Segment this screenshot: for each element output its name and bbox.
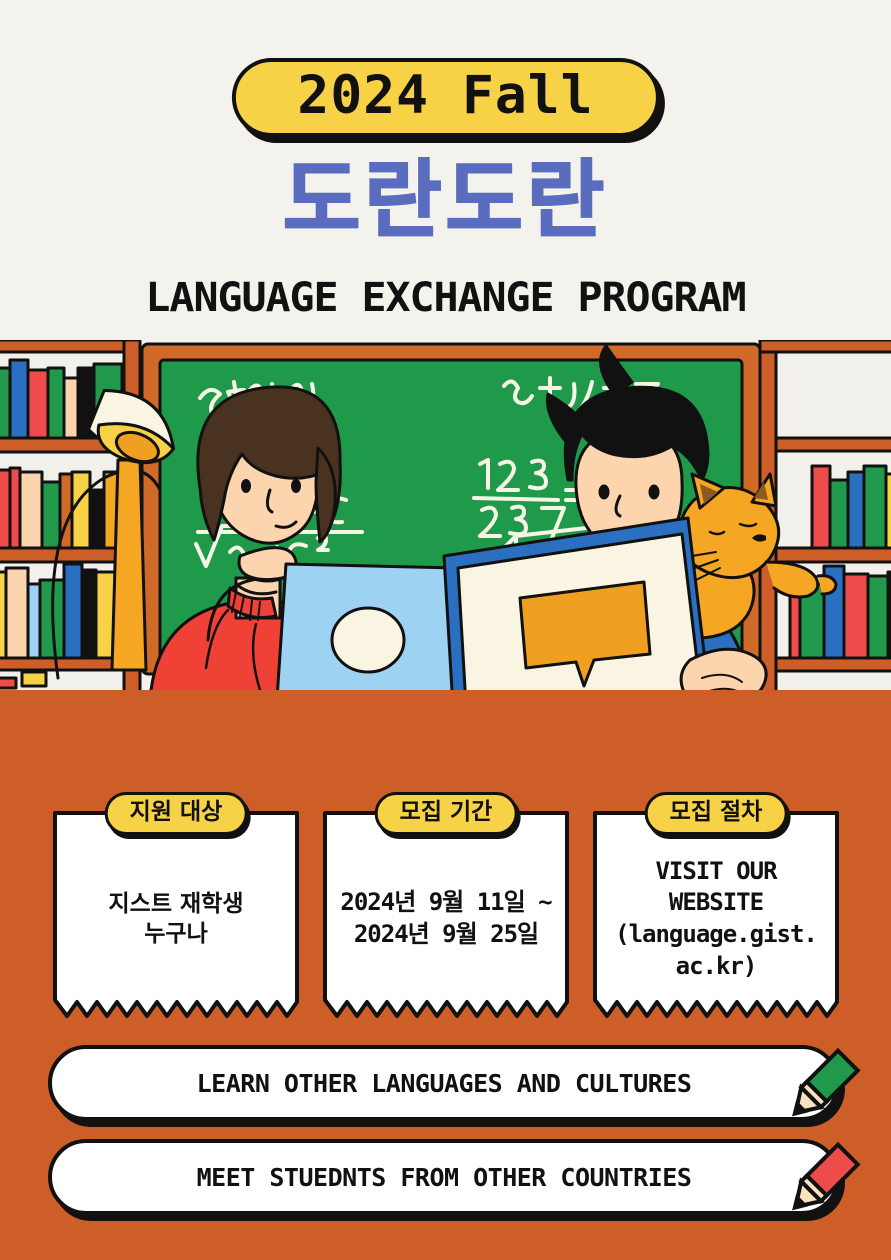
benefit-banner-students[interactable]: MEET STUEDNTS FROM OTHER COUNTRIES (48, 1139, 840, 1215)
info-card-period: 2024년 9월 11일 ~ 2024년 9월 25일 모집 기간 (322, 810, 570, 1028)
card-line: ac.kr) (592, 951, 840, 983)
year-badge-label: 2024 Fall (297, 69, 593, 122)
info-card-eligibility-text: 지스트 재학생 누구나 (52, 810, 300, 1010)
card-line: 2024년 9월 11일 ~ (322, 887, 570, 919)
info-card-eligibility: 지스트 재학생 누구나 지원 대상 (52, 810, 300, 1028)
card-line: (language.gist. (592, 919, 840, 951)
page-title-korean: 도란도란 (0, 158, 891, 242)
pencil-green-icon (778, 1043, 864, 1129)
year-badge: 2024 Fall (231, 58, 659, 137)
card-line: 누구나 (52, 919, 300, 949)
card-line: VISIT OUR (592, 856, 840, 888)
info-card-period-text: 2024년 9월 11일 ~ 2024년 9월 25일 (322, 810, 570, 1010)
page-title-english: LANGUAGE EXCHANGE PROGRAM (0, 278, 891, 318)
info-card-process-label: 모집 절차 (645, 792, 788, 835)
info-card-process: VISIT OUR WEBSITE (language.gist. ac.kr)… (592, 810, 840, 1028)
card-line: WEBSITE (592, 887, 840, 919)
benefit-banner-students-label: MEET STUEDNTS FROM OTHER COUNTRIES (197, 1163, 692, 1192)
info-card-eligibility-label: 지원 대상 (105, 792, 248, 835)
poster-root: 2024 Fall 도란도란 LANGUAGE EXCHANGE PROGRAM (0, 0, 891, 1260)
card-line: 지스트 재학생 (52, 889, 300, 919)
card-line: 2024년 9월 25일 (322, 919, 570, 951)
info-cards: 지스트 재학생 누구나 지원 대상 2024년 9월 11일 ~ 2024년 9… (52, 810, 840, 1030)
pencil-red-icon (778, 1137, 864, 1223)
benefit-banner-languages-label: LEARN OTHER LANGUAGES AND CULTURES (197, 1069, 692, 1098)
bookshelf-right (760, 340, 891, 692)
benefit-banners: LEARN OTHER LANGUAGES AND CULTURES MEET … (48, 1045, 848, 1233)
poster-header: 2024 Fall 도란도란 LANGUAGE EXCHANGE PROGRAM (0, 0, 891, 340)
info-card-process-text: VISIT OUR WEBSITE (language.gist. ac.kr) (592, 810, 840, 1010)
benefit-banner-languages[interactable]: LEARN OTHER LANGUAGES AND CULTURES (48, 1045, 840, 1121)
info-card-period-label: 모집 기간 (375, 792, 518, 835)
